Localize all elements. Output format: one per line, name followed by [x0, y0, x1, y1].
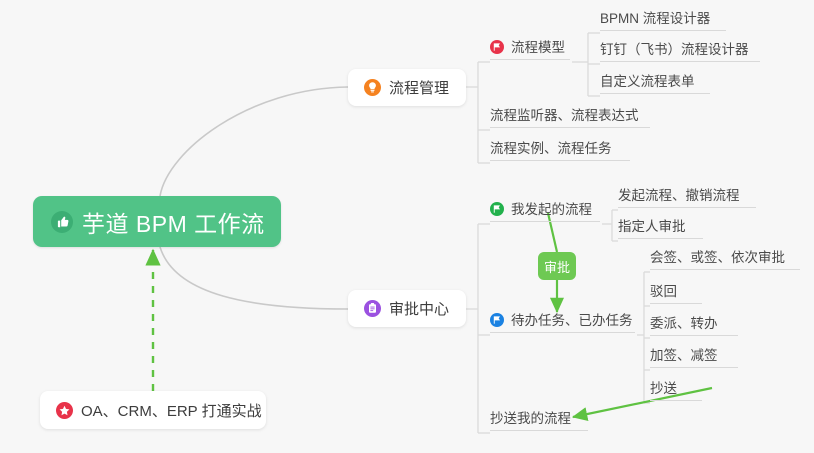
branch-label-approval-center: 审批中心 [389, 298, 449, 319]
leaf-node-bpmn-designer[interactable]: BPMN 流程设计器 [600, 11, 726, 31]
link-todo-done-spine [637, 272, 650, 403]
leaf-node-cc-to-me-process[interactable]: 抄送我的流程 [490, 411, 588, 431]
link-my-initiated-spine [602, 210, 618, 241]
leaf-label-process-model: 流程模型 [511, 40, 565, 55]
leaf-label-my-initiated-process: 我发起的流程 [511, 202, 592, 217]
leaf-node-carbon-copy[interactable]: 抄送 [650, 381, 702, 401]
leaf-node-delegate-transfer[interactable]: 委派、转办 [650, 316, 738, 336]
flag-icon [490, 202, 504, 216]
root-label: 芋道 BPM 工作流 [82, 205, 265, 239]
branch-node-process-management[interactable]: 流程管理 [348, 69, 466, 106]
leaf-label-process-instance-task: 流程实例、流程任务 [490, 141, 612, 156]
link-root-to-process-management [160, 87, 348, 196]
flag-icon [490, 40, 504, 54]
star-icon [56, 402, 73, 419]
leaf-label-designated-approver: 指定人审批 [618, 219, 686, 234]
leaf-label-custom-process-form: 自定义流程表单 [600, 74, 695, 89]
leaf-node-countersign-orsign-sequential[interactable]: 会签、或签、依次审批 [650, 250, 800, 270]
link-approval-center-spine [466, 224, 490, 433]
annotation-badge-label: 审批 [544, 257, 570, 276]
leaf-node-custom-process-form[interactable]: 自定义流程表单 [600, 74, 710, 94]
leaf-node-reject[interactable]: 驳回 [650, 284, 702, 304]
leaf-label-delegate-transfer: 委派、转办 [650, 316, 718, 331]
annotation-card-oa-crm-erp[interactable]: OA、CRM、ERP 打通实战 [40, 391, 266, 429]
leaf-label-reject: 驳回 [650, 284, 677, 299]
leaf-node-process-listener-expression[interactable]: 流程监听器、流程表达式 [490, 108, 650, 128]
leaf-node-process-instance-task[interactable]: 流程实例、流程任务 [490, 141, 630, 161]
root-node[interactable]: 芋道 BPM 工作流 [33, 196, 281, 247]
leaf-node-todo-done-tasks[interactable]: 待办任务、已办任务 [490, 313, 635, 333]
lightbulb-icon [364, 79, 381, 96]
leaf-node-start-cancel-process[interactable]: 发起流程、撤销流程 [618, 188, 756, 208]
leaf-node-my-initiated-process[interactable]: 我发起的流程 [490, 202, 600, 222]
leaf-node-process-model[interactable]: 流程模型 [490, 40, 570, 60]
link-root-to-approval-center [160, 247, 348, 309]
leaf-label-process-listener-expression: 流程监听器、流程表达式 [490, 108, 639, 123]
thumbs-up-icon [51, 211, 73, 233]
leaf-label-start-cancel-process: 发起流程、撤销流程 [618, 188, 740, 203]
leaf-node-add-remove-sign[interactable]: 加签、减签 [650, 348, 738, 368]
annotation-card-label: OA、CRM、ERP 打通实战 [81, 400, 262, 421]
branch-node-approval-center[interactable]: 审批中心 [348, 290, 466, 327]
leaf-node-designated-approver[interactable]: 指定人审批 [618, 219, 703, 239]
clipboard-icon [364, 300, 381, 317]
leaf-label-cc-to-me-process: 抄送我的流程 [490, 411, 571, 426]
leaf-label-todo-done-tasks: 待办任务、已办任务 [511, 313, 633, 328]
leaf-label-bpmn-designer: BPMN 流程设计器 [600, 11, 710, 26]
flag-icon [490, 313, 504, 327]
annotation-badge-approval[interactable]: 审批 [538, 252, 576, 280]
leaf-label-add-remove-sign: 加签、减签 [650, 348, 718, 363]
mindmap-canvas: 芋道 BPM 工作流 流程管理 流程模型 BPMN 流程设计器 钉钉（飞书）流程… [0, 0, 814, 453]
leaf-node-dingtalk-feishu-designer[interactable]: 钉钉（飞书）流程设计器 [600, 42, 760, 62]
link-process-management-spine [466, 62, 490, 163]
link-process-model-spine [572, 33, 600, 96]
leaf-label-countersign-orsign-sequential: 会签、或签、依次审批 [650, 250, 785, 265]
leaf-label-dingtalk-feishu-designer: 钉钉（飞书）流程设计器 [600, 42, 749, 57]
branch-label-process-management: 流程管理 [389, 77, 449, 98]
leaf-label-carbon-copy: 抄送 [650, 381, 677, 396]
